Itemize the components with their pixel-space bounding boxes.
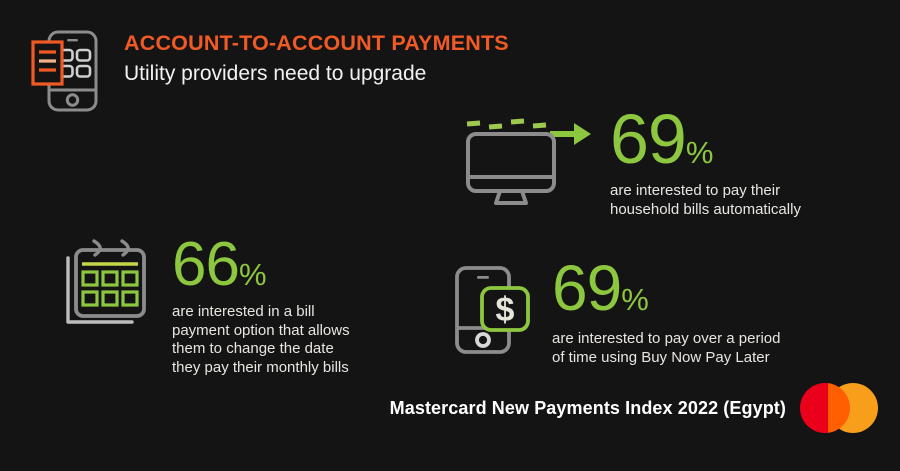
header-text-block: ACCOUNT-TO-ACCOUNT PAYMENTS Utility prov… xyxy=(124,26,509,87)
mobile-dollar-icon: $ xyxy=(452,262,538,358)
svg-text:$: $ xyxy=(496,291,515,329)
calendar-icon xyxy=(58,238,154,334)
stat-number: 66 xyxy=(172,230,239,299)
stat-value-calendar: 66% xyxy=(172,240,350,291)
stat-description-calendar: are interested in a bill payment option … xyxy=(172,303,350,378)
percent-symbol: % xyxy=(621,282,649,317)
stat-block-phone: $ 69% are interested to pay over a perio… xyxy=(452,262,780,368)
mastercard-logo xyxy=(800,383,878,433)
stat-body-monitor: 69% are interested to pay their househol… xyxy=(610,108,801,220)
stat-number: 69 xyxy=(610,100,686,178)
stat-description-monitor: are interested to pay their household bi… xyxy=(610,182,801,220)
footer: Mastercard New Payments Index 2022 (Egyp… xyxy=(0,383,900,433)
stat-block-monitor: 69% are interested to pay their househol… xyxy=(462,108,801,220)
monitor-auto-payment-icon xyxy=(462,108,592,208)
source-label: Mastercard New Payments Index 2022 (Egyp… xyxy=(390,398,786,419)
stat-block-calendar: 66% are interested in a bill payment opt… xyxy=(58,238,350,378)
stat-number: 69 xyxy=(552,252,621,324)
mastercard-overlap xyxy=(828,383,850,433)
page-subtitle: Utility providers need to upgrade xyxy=(124,61,509,87)
stat-value-phone: 69% xyxy=(552,262,780,314)
page-title: ACCOUNT-TO-ACCOUNT PAYMENTS xyxy=(124,32,509,56)
percent-symbol: % xyxy=(686,135,714,170)
phone-bill-icon xyxy=(28,28,102,114)
stat-value-monitor: 69% xyxy=(610,111,801,168)
percent-symbol: % xyxy=(239,257,267,292)
header: ACCOUNT-TO-ACCOUNT PAYMENTS Utility prov… xyxy=(28,26,509,114)
infographic-root: ACCOUNT-TO-ACCOUNT PAYMENTS Utility prov… xyxy=(0,0,900,471)
stat-body-phone: 69% are interested to pay over a period … xyxy=(552,262,780,368)
stat-description-phone: are interested to pay over a period of t… xyxy=(552,330,780,368)
stat-body-calendar: 66% are interested in a bill payment opt… xyxy=(172,238,350,378)
